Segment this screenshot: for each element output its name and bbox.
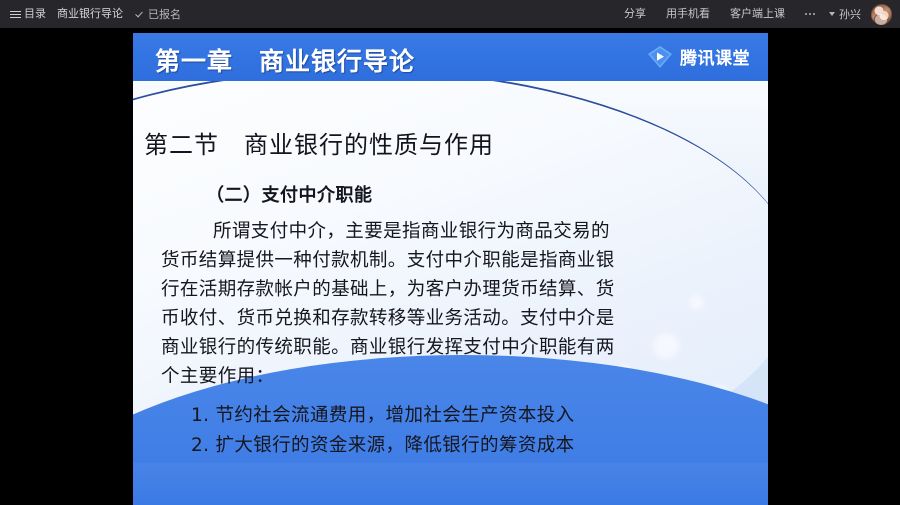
list-item-number: 1. (191, 405, 209, 426)
username-label: 孙兴 (839, 6, 861, 22)
slide-paragraph: 所谓支付中介，主要是指商业银行为商品交易的 货币结算提供一种付款机制。支付中介职… (161, 217, 751, 391)
slide-list: 1.节约社会流通费用，增加社会生产资本投入 2.扩大银行的资金来源，降低银行的筹… (191, 401, 575, 461)
list-item-text: 节约社会流通费用，增加社会生产资本投入 (215, 405, 574, 426)
paragraph-line: 行在活期存款帐户的基础上，为客户办理货币结算、货 (161, 275, 751, 304)
user-menu[interactable]: 孙兴 (825, 4, 892, 25)
avatar[interactable] (871, 4, 892, 25)
slide-section-title: 第二节 商业银行的性质与作用 (144, 125, 494, 160)
ellipsis-icon[interactable] (795, 13, 825, 15)
top-toolbar: 目录 商业银行导论 已报名 分享 用手机看 客户端上课 孙兴 (0, 0, 900, 28)
slide-subsection-title: （二）支付中介职能 (206, 181, 373, 207)
catalog-menu-button[interactable]: 目录 (9, 0, 50, 28)
paragraph-line: 货币结算提供一种付款机制。支付中介职能是指商业银 (161, 246, 751, 275)
chevron-down-icon (829, 12, 835, 16)
client-class-button[interactable]: 客户端上课 (720, 0, 795, 28)
check-icon (136, 10, 145, 19)
slide-chapter-title: 第一章 商业银行导论 (155, 42, 415, 78)
enrolled-status: 已报名 (130, 6, 181, 22)
list-item-text: 扩大银行的资金来源，降低银行的筹资成本 (215, 435, 574, 456)
course-title[interactable]: 商业银行导论 (50, 0, 130, 28)
list-item: 2.扩大银行的资金来源，降低银行的筹资成本 (191, 431, 575, 461)
list-item-number: 2. (191, 435, 209, 456)
brand-logo: 腾讯课堂 (647, 44, 750, 69)
paragraph-line: 商业银行的传统职能。商业银行发挥支付中介职能有两 (161, 333, 751, 362)
toolbar-left-group: 目录 商业银行导论 已报名 (9, 0, 181, 28)
list-item: 1.节约社会流通费用，增加社会生产资本投入 (191, 401, 575, 431)
play-diamond-icon (647, 45, 673, 69)
enrolled-label: 已报名 (148, 6, 181, 22)
hamburger-icon (10, 11, 21, 18)
slide-content: 第二节 商业银行的性质与作用 （二）支付中介职能 所谓支付中介，主要是指商业银行… (133, 81, 768, 505)
paragraph-line: 所谓支付中介，主要是指商业银行为商品交易的 (161, 217, 751, 246)
share-button[interactable]: 分享 (614, 0, 656, 28)
view-on-mobile-button[interactable]: 用手机看 (656, 0, 720, 28)
catalog-menu-label: 目录 (24, 0, 46, 28)
slide-header-bar: 第一章 商业银行导论 腾讯课堂 (133, 33, 768, 81)
toolbar-right-group: 分享 用手机看 客户端上课 孙兴 (614, 0, 892, 28)
paragraph-line: 币收付、货币兑换和存款转移等业务活动。支付中介是 (161, 304, 751, 333)
paragraph-line: 个主要作用： (161, 362, 751, 391)
presentation-slide: 第一章 商业银行导论 腾讯课堂 第二节 商业银行的性质与作用 （二）支付中介职能 (133, 33, 768, 505)
course-player-window: 目录 商业银行导论 已报名 分享 用手机看 客户端上课 孙兴 (0, 0, 900, 505)
brand-name: 腾讯课堂 (680, 44, 750, 69)
video-stage[interactable]: 第一章 商业银行导论 腾讯课堂 第二节 商业银行的性质与作用 （二）支付中介职能 (0, 28, 900, 505)
